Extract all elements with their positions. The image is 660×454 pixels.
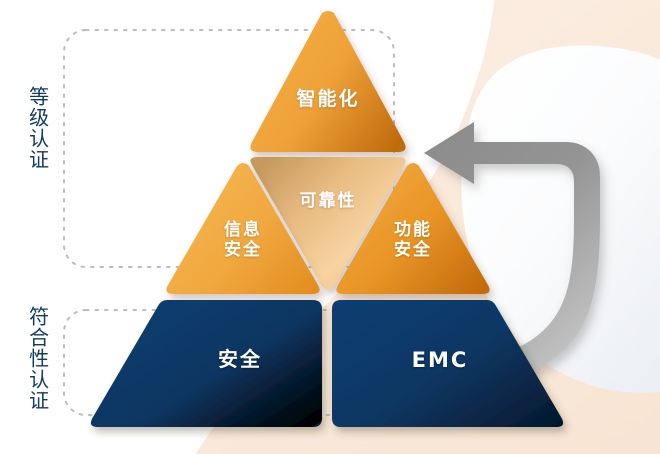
shapes-layer	[0, 0, 660, 454]
side-label-compliance: 符合性认证	[26, 306, 48, 411]
pyramid-tile-safety[interactable]	[91, 300, 322, 427]
side-label-tier: 等级认证	[26, 86, 48, 170]
pyramid-tile-emc[interactable]	[332, 300, 563, 427]
diagram-canvas: 等级认证 符合性认证 智能化 可靠性 信息 安全 功能 安全 安全 EMC	[0, 0, 660, 454]
